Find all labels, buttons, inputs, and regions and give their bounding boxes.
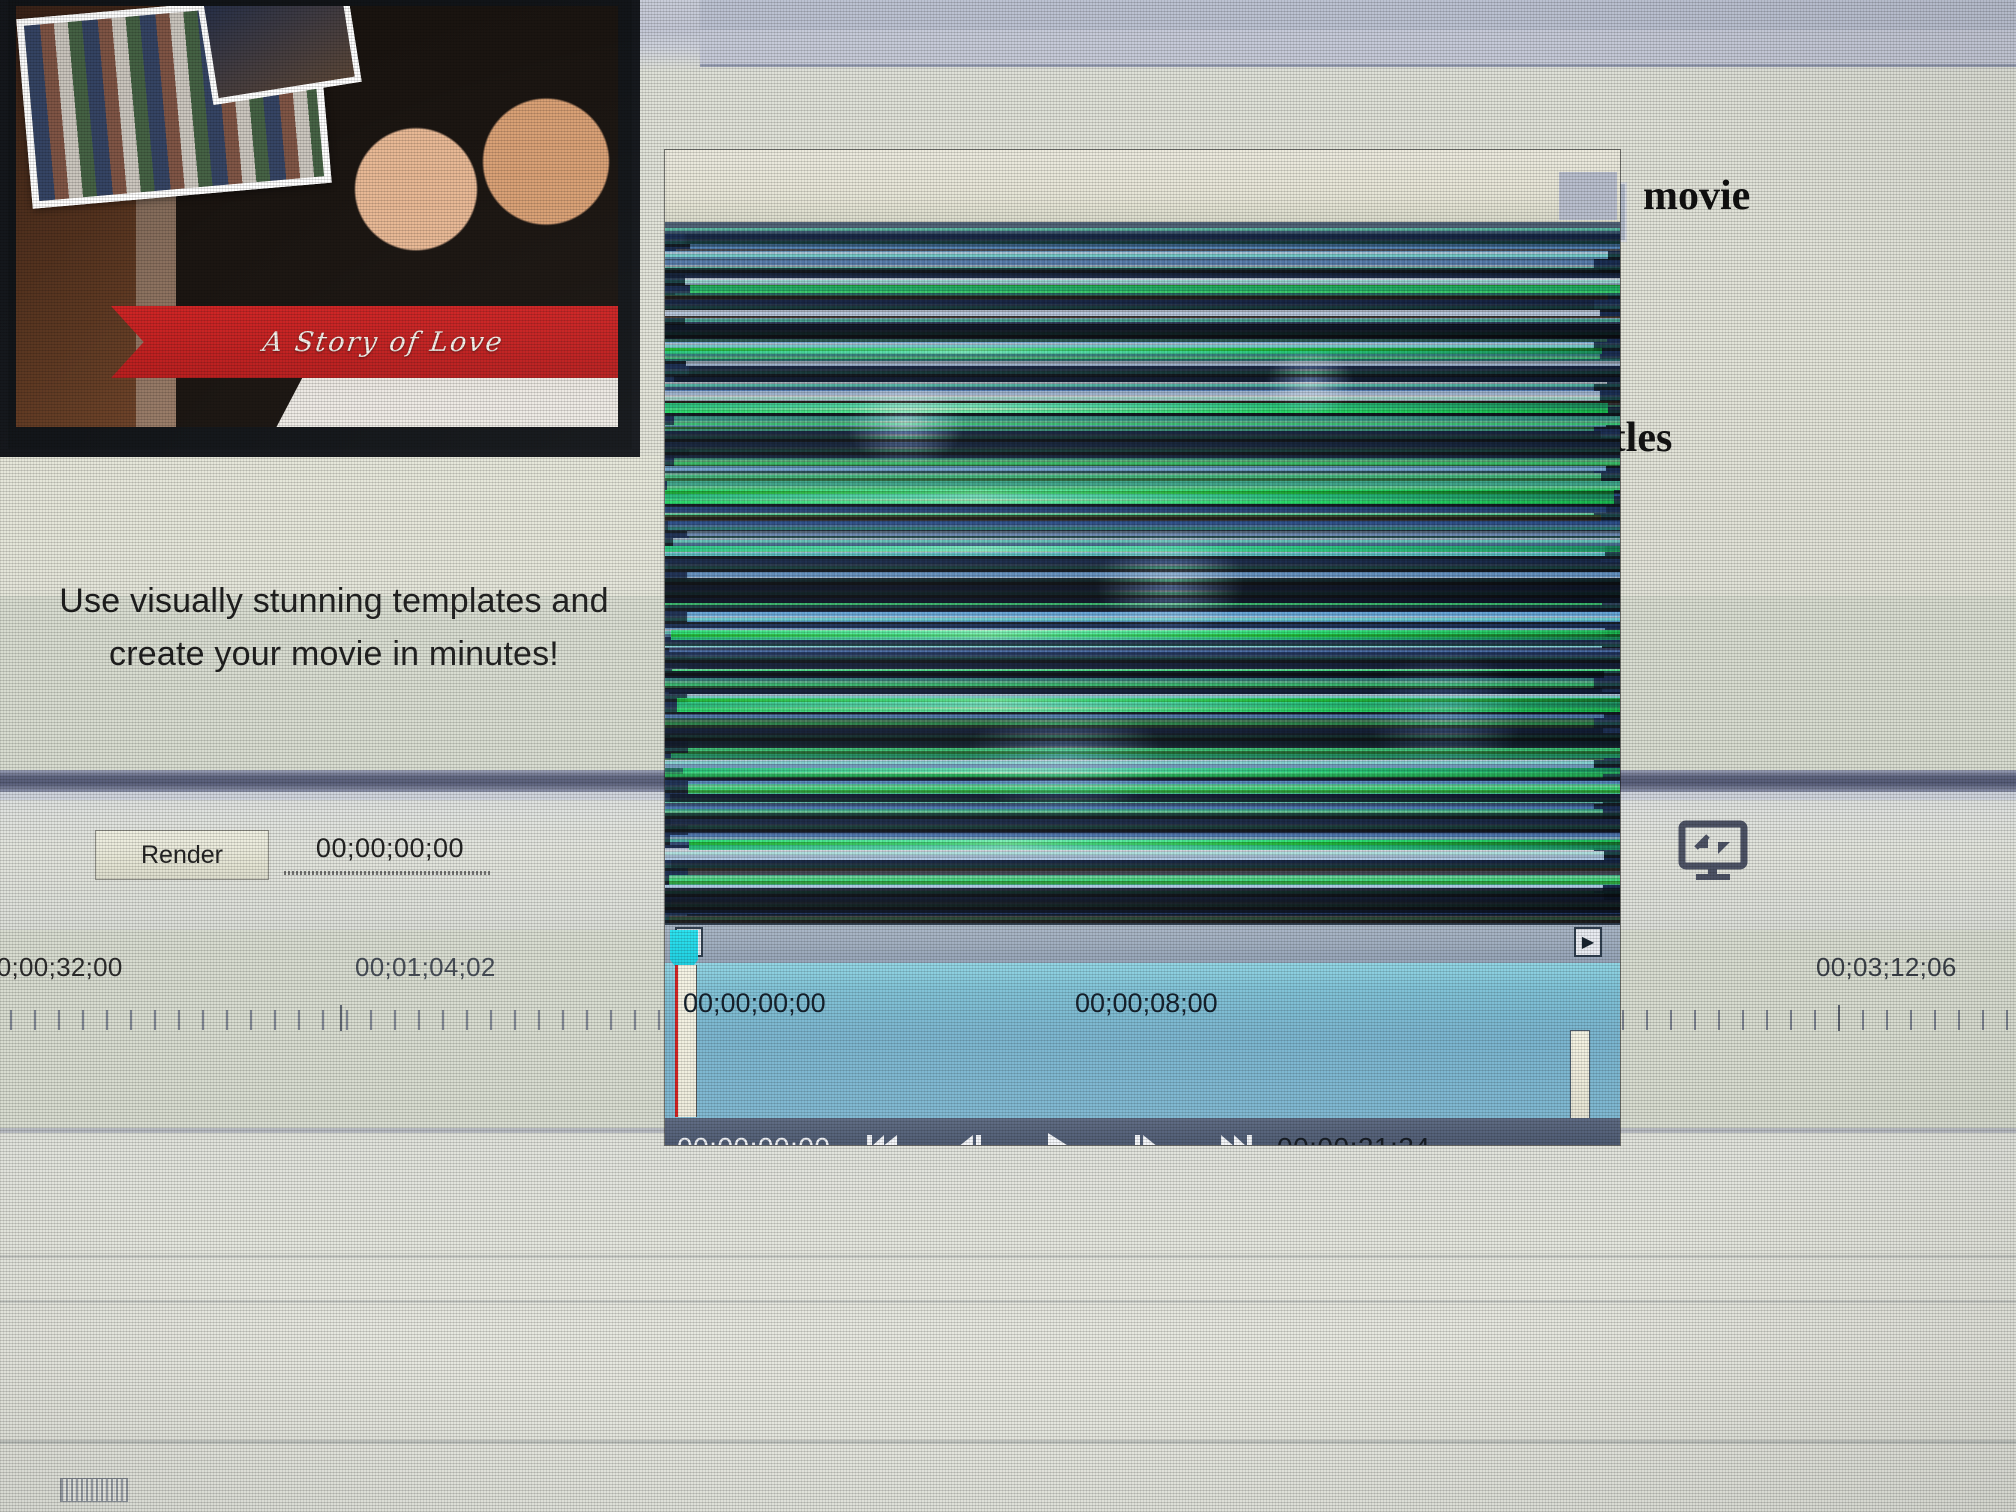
preview-timeline[interactable] (665, 963, 1620, 1118)
play-button[interactable] (1031, 1128, 1087, 1145)
ruler-timecode-left: 00;00;32;00 (0, 952, 123, 983)
step-forward-button[interactable] (1119, 1128, 1175, 1145)
preview-video-noise-overlay (665, 228, 1620, 923)
app-header-divider (700, 64, 2016, 67)
tracks-divider-d (0, 1440, 2016, 1444)
preview-window-close-button[interactable] (1559, 172, 1617, 220)
template-thumbnail-image: A Story of Love (16, 6, 618, 427)
render-timecode[interactable]: 00;00;00;00 (285, 833, 495, 864)
render-timecode-underline (284, 871, 492, 875)
marketing-headline: Use visually stunning templates and crea… (0, 575, 684, 681)
timeline-ruler-left[interactable] (10, 1010, 665, 1030)
preview-timeline-timecode-mid: 00;00;08;00 (1075, 988, 1218, 1019)
preview-timeline-timecode-start: 00;00;00;00 (683, 988, 826, 1019)
preview-total-timecode: 00;00;21;24 (1277, 1132, 1430, 1145)
app-titlebar-strip (700, 0, 2016, 30)
template-thumbnail[interactable]: A Story of Love (0, 0, 640, 457)
label-movie: movie (1643, 172, 1750, 220)
marketing-headline-line1: Use visually stunning templates and (0, 575, 684, 628)
ruler-timecode-mid: 00;01;04;02 (355, 952, 496, 983)
go-to-start-button[interactable] (855, 1128, 911, 1145)
app-menubar-strip (700, 30, 2016, 64)
monitor-screen: A Story of Love Use visually stunning te… (0, 0, 2016, 1512)
timeline-tracks-area (0, 1130, 2016, 1512)
preview-scroll-right-arrow[interactable]: ▶ (1574, 927, 1602, 957)
timeline-ruler-major-tick (340, 1005, 342, 1031)
monitor-fullscreen-icon[interactable] (1678, 820, 1748, 882)
preview-video-canvas[interactable] (665, 228, 1620, 923)
template-banner: A Story of Love (111, 306, 618, 378)
tracks-divider-b (0, 1255, 2016, 1258)
tracks-divider-c (0, 1300, 2016, 1303)
preview-window-titlebar[interactable] (665, 150, 1620, 222)
step-back-button[interactable] (943, 1128, 999, 1145)
template-photo-card-2-image (203, 6, 355, 98)
preview-window[interactable]: ◀ ▶ 00;00;00;00 00;00;08;00 00;00;00;00 (665, 150, 1620, 1145)
ruler-timecode-right: 00;03;12;06 (1816, 952, 1957, 983)
preview-outpoint-marker[interactable] (1570, 1030, 1590, 1120)
marketing-headline-line2: create your movie in minutes! (0, 628, 684, 681)
preview-zoom-scrollbar[interactable] (665, 923, 1620, 967)
timeline-ruler-right[interactable] (1622, 1010, 2016, 1030)
timeline-ruler-major-tick-2 (1838, 1005, 1840, 1031)
preview-current-timecode[interactable]: 00;00;00;00 (677, 1132, 830, 1145)
taskbar-sliver[interactable] (60, 1478, 128, 1502)
template-banner-text: A Story of Love (261, 327, 506, 358)
render-button[interactable]: Render (95, 830, 269, 880)
go-to-end-button[interactable] (1207, 1128, 1263, 1145)
